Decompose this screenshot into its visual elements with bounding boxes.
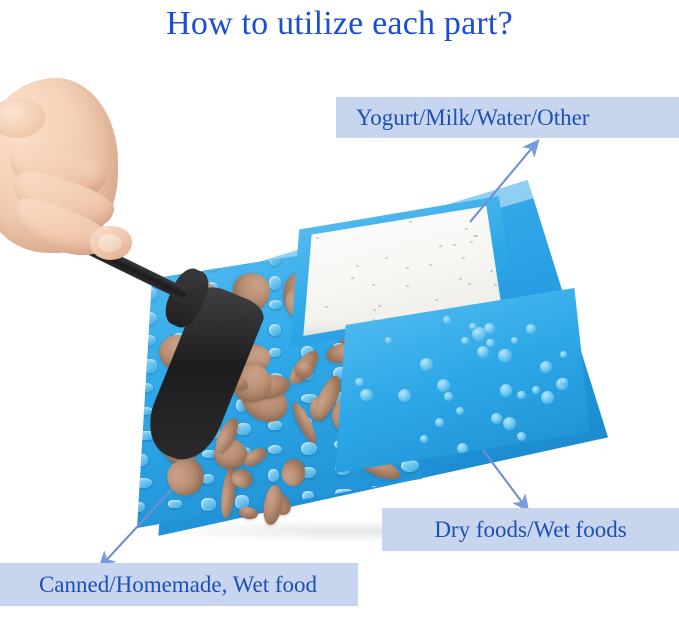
dry-well-nub	[498, 349, 512, 363]
callout-label-dry-foods: Dry foods/Wet foods	[382, 508, 679, 551]
lick-mat-nub	[269, 276, 281, 290]
dry-well-nub	[560, 351, 567, 358]
dry-well-nub	[532, 386, 540, 394]
human-hand	[0, 58, 153, 273]
dry-well-nub	[526, 324, 535, 333]
lick-mat-nub	[201, 498, 216, 512]
dry-well-nub	[486, 339, 495, 348]
lick-mat-nub	[301, 442, 317, 455]
callout-label-canned: Canned/Homemade, Wet food	[0, 563, 358, 606]
lick-mat-nub	[207, 258, 218, 271]
dry-well-nub	[541, 391, 554, 404]
dry-well-nub	[385, 337, 392, 344]
dry-well-nub	[398, 389, 411, 402]
dry-well-nub	[511, 337, 518, 344]
milk-speck	[385, 257, 388, 259]
lick-mat-nub	[269, 324, 281, 335]
milk-speck	[453, 244, 456, 246]
lick-mat-nub	[136, 454, 148, 465]
milk-speck	[429, 264, 432, 266]
lick-mat-nub	[402, 484, 414, 494]
dry-well-nub	[503, 417, 516, 430]
milk-speck	[409, 221, 412, 223]
dry-well-nub	[456, 407, 464, 415]
dry-well-nub	[491, 413, 502, 424]
dry-well-nub	[517, 432, 527, 442]
milk-speck	[316, 237, 319, 239]
dry-well-nub	[517, 391, 525, 399]
milk-speck	[462, 257, 465, 259]
lick-mat-nub	[143, 288, 157, 301]
lick-mat-nub	[168, 500, 183, 508]
milk-speck	[490, 270, 493, 272]
dry-well-nub	[500, 384, 512, 396]
milk-speck	[406, 267, 409, 269]
milk-speck	[435, 299, 438, 301]
lick-mat-nub	[269, 300, 282, 309]
dry-well-nub	[469, 323, 477, 331]
lick-mat-nub	[134, 502, 145, 512]
dry-well-nub	[443, 316, 451, 324]
milk-speck	[470, 241, 473, 243]
dry-well-nub	[435, 418, 444, 427]
lick-mat-nub	[140, 359, 157, 373]
dry-well-nub	[360, 389, 373, 402]
lick-mat-nub	[142, 312, 157, 326]
dry-well-nub	[444, 392, 453, 401]
dry-well-nub	[355, 378, 364, 387]
lick-mat-nub	[238, 255, 252, 263]
lick-mat-nub	[135, 478, 152, 488]
callout-label-text: Dry foods/Wet foods	[434, 517, 626, 543]
lick-mat-nub	[139, 383, 153, 392]
dry-well-nub	[540, 361, 553, 374]
dry-well-nub	[437, 379, 450, 392]
lick-mat-nub	[141, 335, 156, 346]
callout-label-text: Yogurt/Milk/Water/Other	[356, 105, 589, 131]
infographic-page: How to utilize each part?	[0, 0, 679, 621]
dry-well-nub	[420, 358, 434, 372]
dry-well-nub	[461, 337, 469, 345]
dry-well-nub	[420, 435, 428, 443]
callout-label-yogurt: Yogurt/Milk/Water/Other	[336, 97, 679, 138]
milk-speck	[303, 237, 306, 239]
callout-label-text: Canned/Homemade, Wet food	[39, 572, 317, 598]
dry-well-nub	[484, 323, 495, 334]
hand-fingernail	[98, 234, 122, 252]
milk-speck	[406, 285, 409, 287]
dry-well-nub	[560, 378, 567, 385]
milk-speck	[305, 260, 308, 262]
dry-well-nub	[477, 346, 489, 358]
milk-speck	[351, 277, 354, 279]
milk-speck	[473, 235, 476, 237]
lick-mat-nub	[268, 445, 282, 454]
lick-mat-nub	[268, 469, 279, 482]
